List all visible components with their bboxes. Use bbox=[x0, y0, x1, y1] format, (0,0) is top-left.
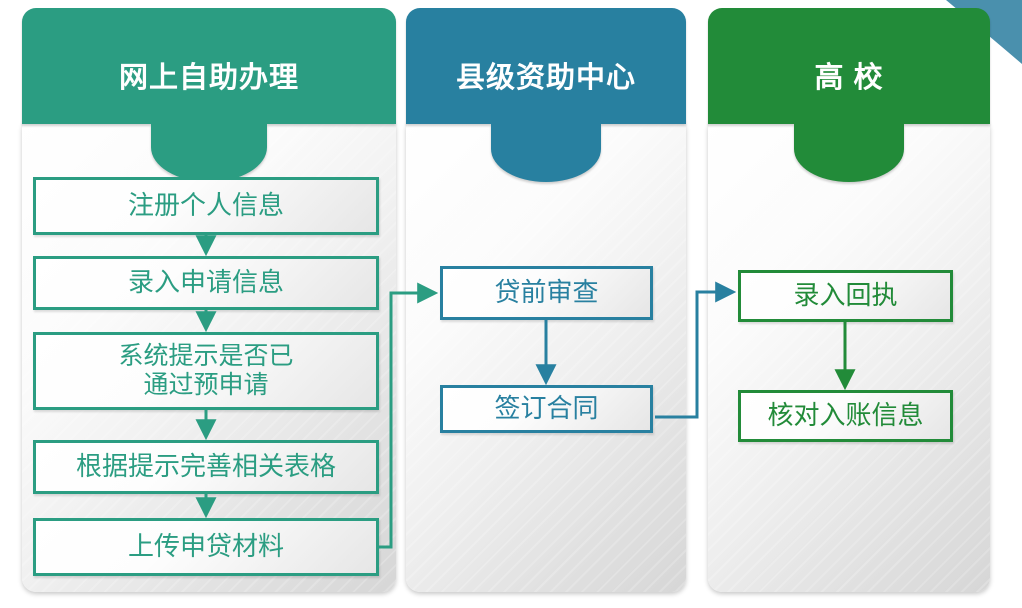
process-box-label: 根据提示完善相关表格 bbox=[76, 452, 336, 482]
process-box-label: 系统提示是否已 通过预申请 bbox=[118, 342, 293, 400]
process-box-enter-receipt[interactable]: 录入回执 bbox=[738, 270, 953, 322]
process-box-label: 核对入账信息 bbox=[767, 401, 923, 431]
process-box-label: 录入回执 bbox=[793, 281, 897, 311]
process-box-complete-related-forms[interactable]: 根据提示完善相关表格 bbox=[33, 440, 379, 494]
process-box-label: 录入申请信息 bbox=[128, 268, 284, 298]
column-county-funding-center: 县级资助中心 贷前审查 签订合同 bbox=[406, 8, 686, 584]
column-header-label-2: 县级资助中心 bbox=[406, 54, 686, 96]
column-body-panel-2 bbox=[406, 116, 686, 592]
process-box-system-prompt-preapproval[interactable]: 系统提示是否已 通过预申请 bbox=[33, 332, 379, 410]
process-box-label: 贷前审查 bbox=[494, 278, 598, 308]
column-header-2: 县级资助中心 bbox=[406, 8, 686, 124]
process-box-verify-deposit-info[interactable]: 核对入账信息 bbox=[738, 390, 953, 442]
process-box-register-personal-info[interactable]: 注册个人信息 bbox=[33, 177, 379, 235]
process-box-pre-loan-review[interactable]: 贷前审查 bbox=[440, 266, 653, 320]
column-header-3: 高 校 bbox=[708, 8, 990, 124]
flowchart-canvas: 网上自助办理 注册个人信息 录入申请信息 系统提示是否已 通过预申请 根据提示完… bbox=[0, 0, 1022, 608]
column-online-self-service: 网上自助办理 注册个人信息 录入申请信息 系统提示是否已 通过预申请 根据提示完… bbox=[22, 8, 396, 584]
column-body-panel-3 bbox=[708, 116, 990, 592]
process-box-enter-application-info[interactable]: 录入申请信息 bbox=[33, 256, 379, 310]
process-box-sign-contract[interactable]: 签订合同 bbox=[440, 385, 653, 433]
process-box-label: 上传申贷材料 bbox=[128, 532, 284, 562]
column-header-label-3: 高 校 bbox=[708, 54, 990, 96]
column-university: 高 校 录入回执 核对入账信息 bbox=[708, 8, 990, 584]
process-box-upload-loan-materials[interactable]: 上传申贷材料 bbox=[33, 518, 379, 576]
column-header-1: 网上自助办理 bbox=[22, 8, 396, 124]
process-box-label: 签订合同 bbox=[494, 394, 598, 424]
column-header-label-1: 网上自助办理 bbox=[22, 54, 396, 96]
process-box-label: 注册个人信息 bbox=[128, 191, 284, 221]
